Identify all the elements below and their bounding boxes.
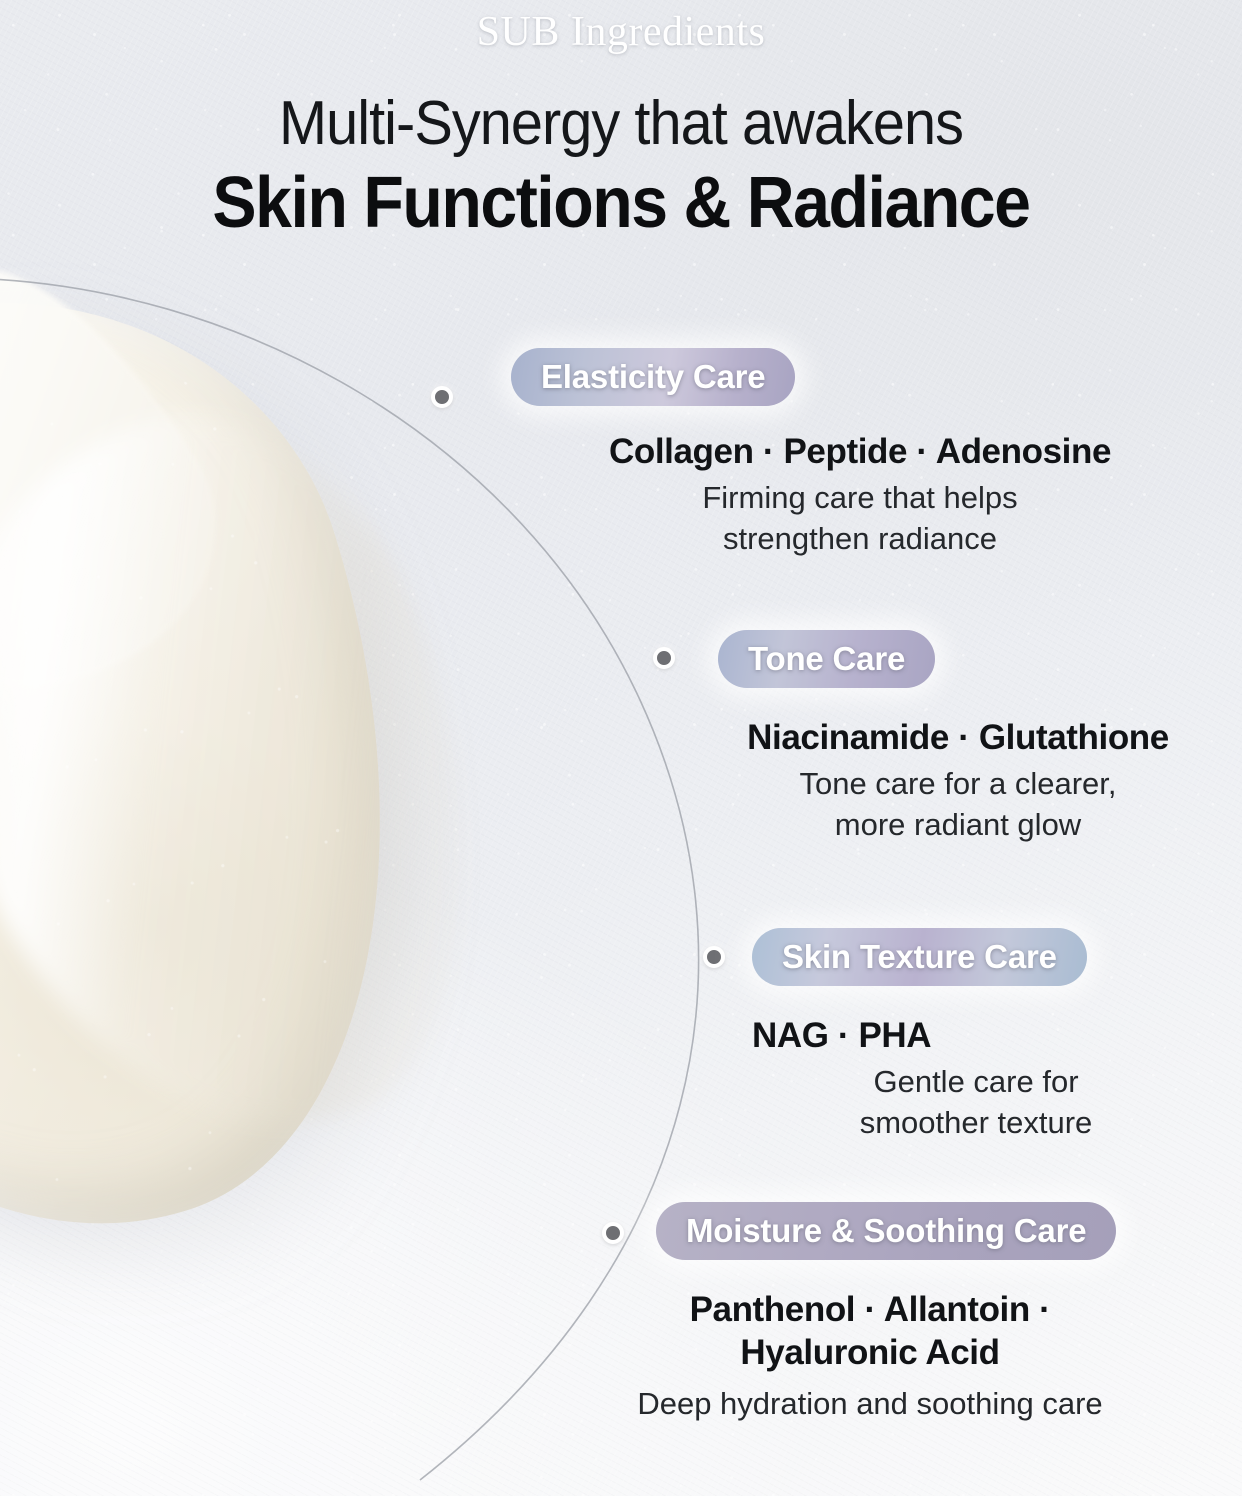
page-title: Skin Functions & Radiance bbox=[50, 162, 1193, 244]
headline-line-1: Multi-Synergy that awakens bbox=[43, 88, 1198, 159]
eyebrow-label: SUB Ingredients bbox=[0, 8, 1242, 56]
marker-dot-texture bbox=[703, 946, 725, 968]
marker-dot-elasticity bbox=[431, 386, 453, 408]
badge-skin-texture-care[interactable]: Skin Texture Care bbox=[752, 928, 1087, 986]
marker-dot-tone bbox=[653, 647, 675, 669]
description-texture: Gentle care for smoother texture bbox=[690, 1062, 1242, 1144]
badge-moisture-soothing-care[interactable]: Moisture & Soothing Care bbox=[656, 1202, 1116, 1260]
ingredient-list-tone: Niacinamide · Glutathione bbox=[640, 716, 1242, 759]
ingredient-list-moisture: Panthenol · Allantoin · Hyaluronic Acid bbox=[520, 1288, 1220, 1375]
marker-dot-moisture bbox=[602, 1222, 624, 1244]
badge-tone-care[interactable]: Tone Care bbox=[718, 630, 935, 688]
ingredient-list-texture: NAG · PHA bbox=[752, 1014, 1242, 1057]
badge-elasticity-care[interactable]: Elasticity Care bbox=[511, 348, 795, 406]
infographic-page: SUB Ingredients Multi-Synergy that awake… bbox=[0, 0, 1242, 1496]
description-elasticity: Firming care that helps strengthen radia… bbox=[545, 478, 1175, 560]
description-moisture: Deep hydration and soothing care bbox=[520, 1384, 1220, 1425]
description-tone: Tone care for a clearer, more radiant gl… bbox=[640, 764, 1242, 846]
ingredient-list-elasticity: Collagen · Peptide · Adenosine bbox=[545, 430, 1175, 473]
